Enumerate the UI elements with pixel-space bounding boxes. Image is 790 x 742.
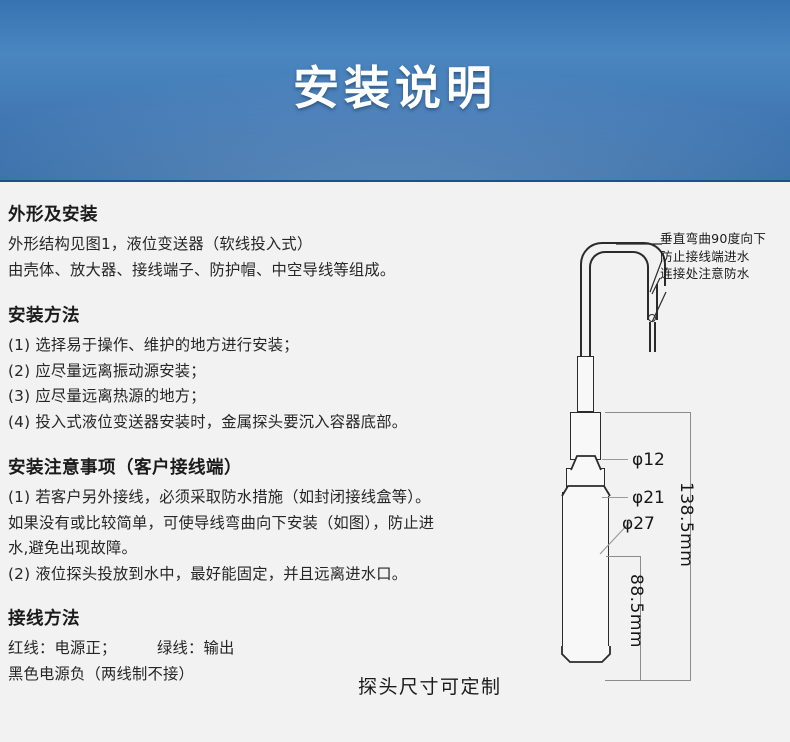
- drawing-caption: 探头尺寸可定制: [358, 672, 502, 699]
- diameter-label-d27: φ27: [622, 514, 655, 534]
- dim-extension-top-body: [606, 556, 641, 557]
- probe-tip-chamfer: [560, 644, 612, 666]
- diameter-label-d21: φ21: [632, 488, 665, 508]
- section-heading: 接线方法: [8, 604, 528, 634]
- section-line: 外形结构见图1，液位变送器（软线投入式）: [8, 232, 528, 258]
- page-title: 安装说明: [0, 52, 790, 118]
- dim-extension-bottom-body: [606, 680, 641, 681]
- installation-instructions-page: 安装说明 外形及安装 外形结构见图1，液位变送器（软线投入式） 由壳体、放大器、…: [0, 0, 790, 742]
- section-line: (1) 若客户另外接线，必须采取防水措施（如封闭接线盒等）。: [8, 485, 528, 511]
- section-line: (1) 选择易于操作、维护的地方进行安装；: [8, 333, 528, 359]
- dim-extension-top-total: [605, 412, 691, 413]
- section-line: (3) 应尽量远离热源的地方；: [8, 384, 528, 410]
- section-heading: 安装方法: [8, 301, 528, 331]
- annotation-line: 防止接线端进水: [660, 248, 790, 266]
- section-line: 如果没有或比较简单，可使导线弯曲向下安装（如图），防止进: [8, 511, 528, 537]
- probe-neck-segment-d12: [577, 356, 594, 412]
- section-line: (2) 应尽量远离振动源安装；: [8, 359, 528, 385]
- leader-line-d21: [602, 497, 628, 498]
- dimension-label-body-length: 88.5mm: [626, 574, 646, 648]
- probe-main-body: [562, 492, 609, 652]
- waterproof-annotation: 垂直弯曲90度向下 防止接线端进水 连接处注意防水: [660, 230, 790, 283]
- section-appearance: 外形及安装 外形结构见图1，液位变送器（软线投入式） 由壳体、放大器、接线端子、…: [8, 200, 528, 283]
- section-line: 水,避免出现故障。: [8, 536, 528, 562]
- section-line: (4) 投入式液位变送器安装时，金属探头要沉入容器底部。: [8, 410, 528, 436]
- annotation-line: 垂直弯曲90度向下: [660, 230, 790, 248]
- diameter-label-d12: φ12: [632, 450, 665, 470]
- level-transmitter-drawing: 垂直弯曲90度向下 防止接线端进水 连接处注意防水 φ12 φ21 φ27: [520, 196, 790, 742]
- probe-segment-d21: [570, 412, 601, 460]
- section-heading: 安装注意事项（客户接线端）: [8, 453, 528, 483]
- section-install-method: 安装方法 (1) 选择易于操作、维护的地方进行安装； (2) 应尽量远离振动源安…: [8, 301, 528, 435]
- section-line: 红线：电源正； 绿线：输出: [8, 636, 528, 662]
- annotation-line: 连接处注意防水: [660, 265, 790, 283]
- section-install-notes: 安装注意事项（客户接线端） (1) 若客户另外接线，必须采取防水措施（如封闭接线…: [8, 453, 528, 587]
- section-line: 由壳体、放大器、接线端子、防护帽、中空导线等组成。: [8, 258, 528, 284]
- probe-chamfer-upper: [564, 454, 608, 472]
- section-line: (2) 液位探头投放到水中，最好能固定，并且远离进水口。: [8, 562, 528, 588]
- page-banner: 安装说明: [0, 0, 790, 182]
- leader-line-d12: [602, 459, 628, 460]
- probe-chamfer-lower: [560, 484, 612, 498]
- section-heading: 外形及安装: [8, 200, 528, 230]
- instructions-text-column: 外形及安装 外形结构见图1，液位变送器（软线投入式） 由壳体、放大器、接线端子、…: [8, 200, 528, 689]
- dimension-label-total-length: 138.5mm: [676, 482, 696, 567]
